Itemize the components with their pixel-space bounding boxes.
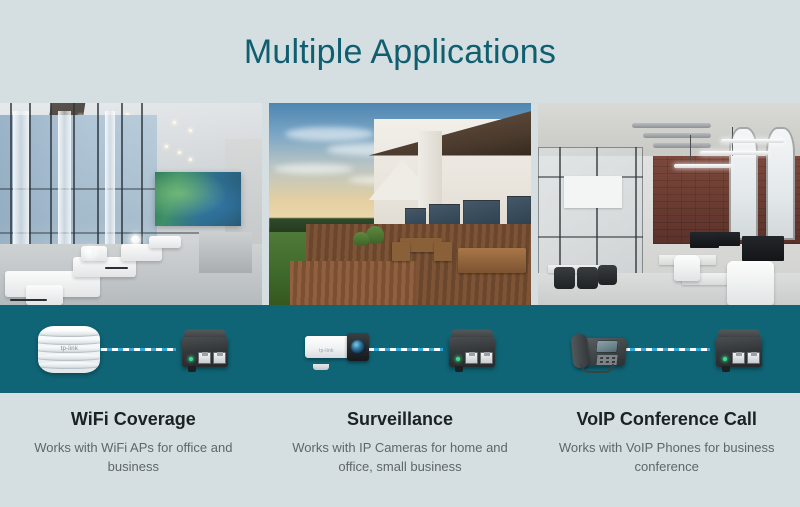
arched-window — [766, 127, 795, 240]
lobby-coffee-table — [10, 299, 47, 301]
rj45-port — [732, 352, 745, 364]
ceiling-duct — [653, 143, 711, 148]
phone-screen — [595, 340, 618, 353]
conference-whiteboard — [564, 176, 622, 208]
header: Multiple Applications — [0, 0, 800, 103]
caption-description: Works with IP Cameras for home and offic… — [285, 439, 516, 477]
office-chair — [674, 255, 700, 281]
caption-title: WiFi Coverage — [18, 409, 249, 430]
voip-phone-icon — [572, 326, 630, 372]
lobby-artwork — [155, 172, 241, 227]
camera-lens-housing — [347, 333, 369, 361]
caption-wifi-coverage: WiFi Coverage Works with WiFi APs for of… — [0, 393, 267, 507]
conference-chair — [577, 267, 598, 289]
desk-monitor — [690, 232, 719, 248]
poe-injector-icon — [182, 329, 228, 369]
deck-lounger — [458, 248, 526, 272]
scenario-photo-surveillance: Modern house exterior at sunset with woo… — [269, 103, 531, 305]
pendant-cord — [690, 135, 691, 163]
caption-title: VoIP Conference Call — [551, 409, 782, 430]
glass-wall-frame — [538, 236, 643, 238]
poe-injector-icon — [716, 329, 762, 369]
device-pair-wifi-coverage: tp-link — [0, 305, 267, 393]
poe-status-led — [723, 357, 727, 361]
rj45-port — [747, 352, 760, 364]
poe-status-led — [189, 357, 193, 361]
ethernet-link-dashed-line — [624, 348, 710, 351]
lobby-reception-desk — [199, 232, 251, 272]
pendant-light — [674, 164, 732, 168]
pendant-light — [721, 139, 784, 143]
phone-cord — [580, 364, 614, 373]
device-diagram-band: tp-link — [0, 305, 800, 393]
arched-window — [729, 127, 758, 240]
device-pair-surveillance: tp-link — [267, 305, 534, 393]
cloud — [274, 164, 353, 174]
poe-injector-icon — [449, 329, 495, 369]
desk-monitor — [742, 236, 784, 260]
scenario-photo-wifi-coverage: Modern hotel lobby atrium with floor-to-… — [0, 103, 262, 305]
device-pair-voip — [533, 305, 800, 393]
conference-chair — [554, 267, 575, 289]
caption-voip: VoIP Conference Call Works with VoIP Pho… — [533, 393, 800, 507]
rj45-port — [480, 352, 493, 364]
pendant-light — [700, 151, 768, 155]
camera-lens — [351, 340, 366, 355]
patio-bench — [392, 242, 410, 260]
poe-status-led — [456, 357, 460, 361]
tp-link-logo: tp-link — [61, 346, 78, 352]
caption-title: Surveillance — [285, 409, 516, 430]
rj45-port — [465, 352, 478, 364]
conference-chair — [598, 265, 616, 285]
wooden-deck-lower-step — [290, 261, 416, 305]
caption-description: Works with VoIP Phones for business conf… — [551, 439, 782, 477]
lobby-sofa — [149, 236, 180, 248]
ceiling-downlight-icon — [189, 158, 192, 161]
office-chair — [727, 261, 774, 305]
lobby-armchair — [26, 285, 63, 305]
scenario-captions: WiFi Coverage Works with WiFi APs for of… — [0, 393, 800, 507]
device-link-row: tp-link — [305, 319, 495, 379]
house-chimney — [418, 131, 442, 212]
ceiling-duct — [643, 133, 711, 138]
power-prong — [455, 366, 463, 372]
patio-bench — [434, 242, 452, 260]
power-prong — [188, 366, 196, 372]
lobby-coffee-table — [105, 267, 129, 269]
ip-camera-icon: tp-link — [305, 332, 371, 366]
rj45-port — [213, 352, 226, 364]
ethernet-link-dashed-line — [90, 348, 176, 351]
application-scenarios-banner: Multiple Applications — [0, 0, 800, 507]
caption-description: Works with WiFi APs for office and busin… — [18, 439, 249, 477]
camera-brand-label: tp-link — [319, 348, 334, 354]
device-link-row — [572, 319, 762, 379]
rj45-port — [198, 352, 211, 364]
lobby-floor-lamp — [86, 248, 95, 257]
shrub — [353, 232, 369, 246]
scenario-photo-voip: Open loft office with exposed brick wall… — [538, 103, 800, 305]
page-title: Multiple Applications — [244, 35, 556, 69]
device-link-row: tp-link — [38, 319, 228, 379]
ceiling-duct — [632, 123, 711, 128]
caption-surveillance: Surveillance Works with IP Cameras for h… — [267, 393, 534, 507]
scenario-photo-strip: Modern hotel lobby atrium with floor-to-… — [0, 103, 800, 305]
ceiling-downlight-icon — [189, 129, 192, 132]
wifi-access-point-icon: tp-link — [38, 326, 100, 373]
desk-monitor — [716, 232, 740, 246]
shrub — [366, 226, 384, 244]
camera-mount-bracket — [313, 364, 329, 370]
power-prong — [722, 366, 730, 372]
